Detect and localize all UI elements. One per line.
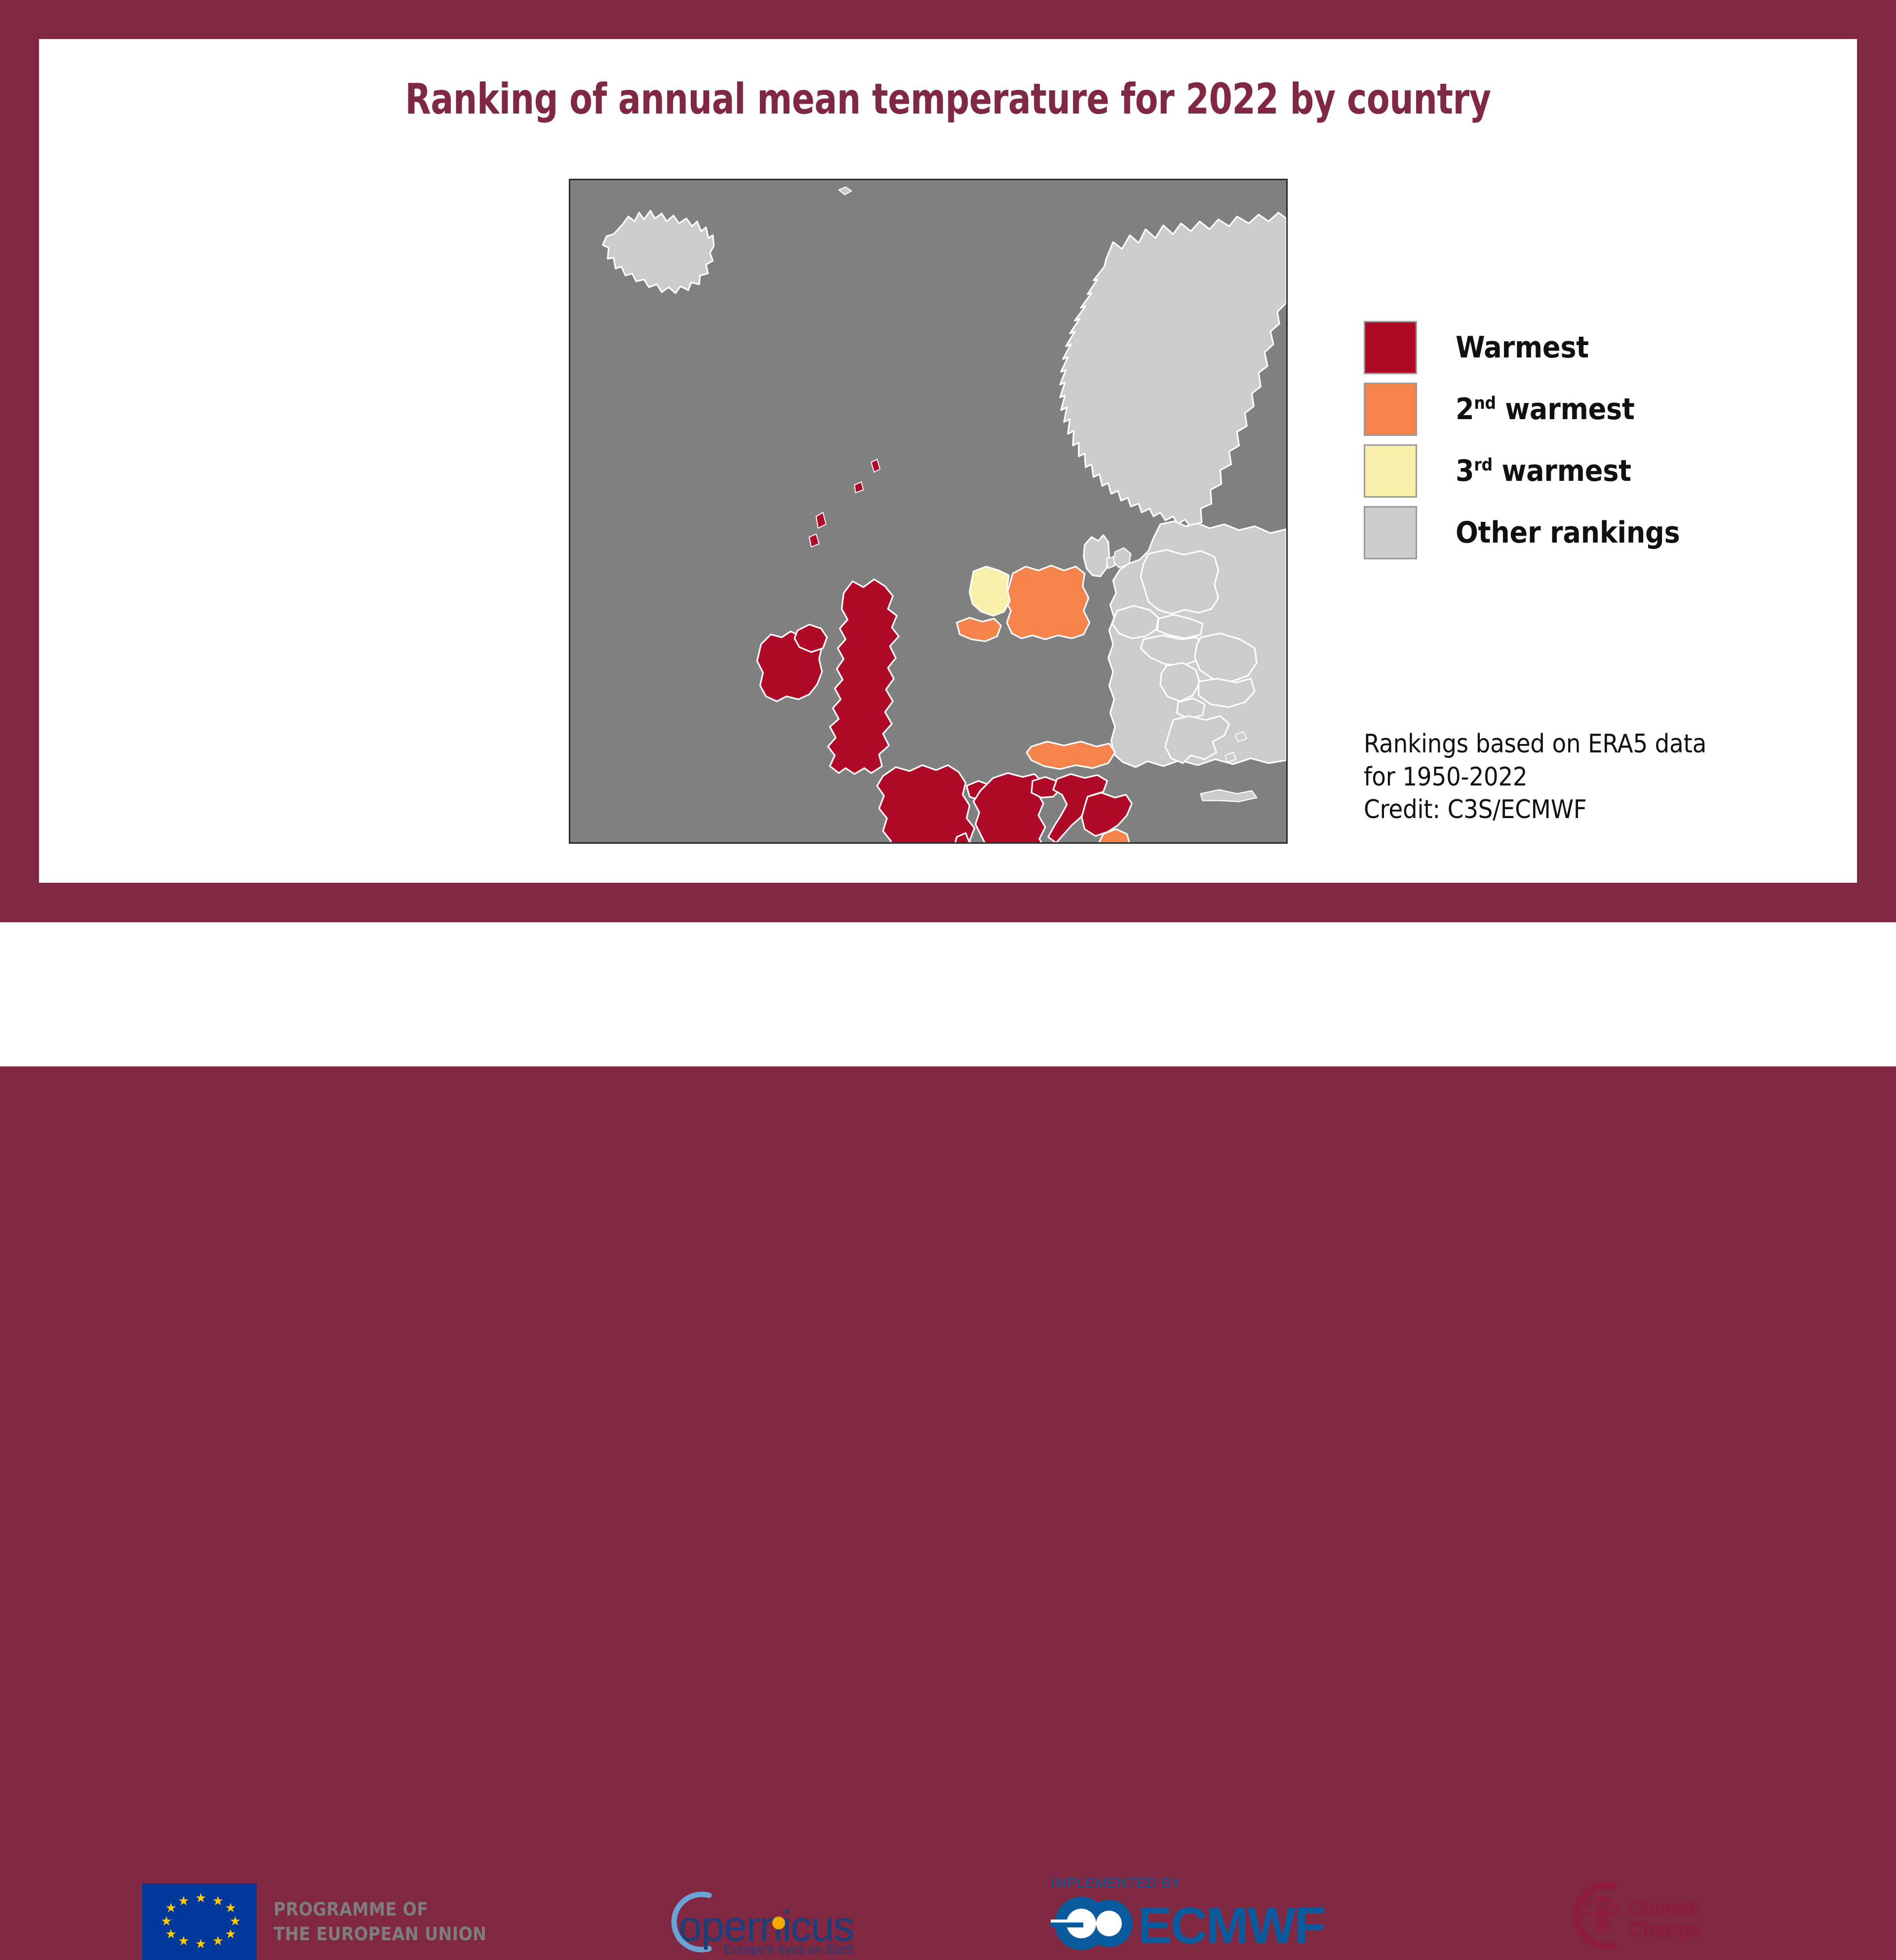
climate-change-line-2: Change [1629, 1919, 1701, 1940]
legend-word-3: warmest [1501, 454, 1631, 488]
legend-ordinal-2: 2 [1456, 392, 1474, 427]
thermometer-mercury-icon [1601, 1906, 1604, 1925]
caption-line-3: Credit: C3S/ECMWF [1364, 793, 1778, 826]
country-poland[interactable] [1141, 550, 1218, 614]
legend-ordinal-suffix-3: rd [1474, 455, 1492, 475]
poster-maroon-frame: Ranking of annual mean temperature for 2… [0, 0, 1896, 922]
copernicus-tagline: Europe's eyes on Earth [724, 1942, 853, 1957]
ecmwf-logo[interactable]: IMPLEMENTED BY ECMWF [1051, 1875, 1332, 1953]
country-greece-crete [1201, 790, 1257, 802]
ecmwf-logo-svg: ECMWF [1051, 1894, 1332, 1953]
country-germany[interactable] [1005, 566, 1089, 639]
caption-line-1: Rankings based on ERA5 data [1364, 728, 1778, 761]
legend-item-third-warmest[interactable]: 3rd warmest [1364, 440, 1739, 502]
legend-item-warmest[interactable]: Warmest [1364, 316, 1739, 378]
legend-ordinal-suffix-2: nd [1474, 393, 1496, 413]
ecmwf-emblem-icon [1051, 1897, 1133, 1950]
copernicus-logo[interactable]: opernicus Europe's eyes on Earth [651, 1887, 853, 1957]
legend-word-2: warmest [1505, 392, 1634, 427]
eu-text-line-2: THE EUROPEAN UNION [274, 1922, 487, 1946]
legend-label-third-warmest: 3rd warmest [1456, 454, 1631, 488]
map-caption: Rankings based on ERA5 data for 1950-202… [1364, 728, 1778, 826]
legend-item-other-rankings[interactable]: Other rankings [1364, 502, 1739, 563]
legend-swatch-second-warmest [1364, 383, 1417, 436]
eu-programme-text: PROGRAMME OF THE EUROPEAN UNION [274, 1897, 487, 1946]
climate-change-logo-svg: Climate Change [1562, 1879, 1725, 1953]
eu-flag-icon: ★ ★ ★ ★ ★ ★ ★ ★ ★ ★ ★ ★ [142, 1883, 257, 1960]
legend-label-second-warmest: 2nd warmest [1456, 392, 1635, 427]
caption-line-2: for 1950-2022 [1364, 761, 1778, 794]
climate-change-logo[interactable]: Climate Change [1562, 1879, 1725, 1953]
climate-arc-icon [1577, 1885, 1613, 1946]
legend-ordinal-3: 3 [1456, 454, 1474, 488]
legend-swatch-warmest [1364, 321, 1417, 374]
copernicus-logo-svg: opernicus Europe's eyes on Earth [651, 1887, 853, 1957]
ecmwf-implemented-by-label: IMPLEMENTED BY [1051, 1875, 1181, 1891]
map-svg [570, 180, 1286, 842]
poster-white-card: Ranking of annual mean temperature for 2… [39, 39, 1857, 883]
country-northern-ireland[interactable] [794, 625, 827, 652]
ecmwf-wordmark: ECMWF [1138, 1897, 1324, 1953]
legend-swatch-other-rankings [1364, 506, 1417, 559]
legend-item-second-warmest[interactable]: 2nd warmest [1364, 378, 1739, 440]
country-france[interactable] [877, 765, 975, 842]
map-legend: Warmest 2nd warmest 3rd warmest Other ra… [1364, 316, 1739, 563]
legend-label-other-rankings: Other rankings [1456, 515, 1680, 550]
climate-change-line-1: Climate [1629, 1897, 1700, 1919]
eu-text-line-1: PROGRAMME OF [274, 1897, 487, 1921]
country-czechia[interactable] [1112, 606, 1158, 638]
europe-ranking-map[interactable] [569, 179, 1288, 844]
copernicus-orange-dot-icon [772, 1917, 785, 1929]
country-austria[interactable] [1027, 742, 1115, 769]
country-denmark[interactable] [1084, 535, 1109, 577]
eu-programme-logo[interactable]: ★ ★ ★ ★ ★ ★ ★ ★ ★ ★ ★ ★ PROGRAMME OF THE… [142, 1883, 487, 1960]
footer-logo-bar: ★ ★ ★ ★ ★ ★ ★ ★ ★ ★ ★ ★ PROGRAMME OF THE… [0, 922, 1896, 1066]
page-title: Ranking of annual mean temperature for 2… [148, 75, 1748, 124]
legend-label-warmest: Warmest [1456, 330, 1589, 365]
legend-swatch-third-warmest [1364, 444, 1417, 498]
